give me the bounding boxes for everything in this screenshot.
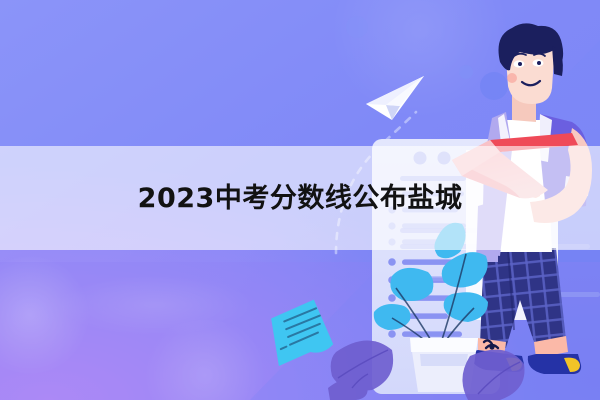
decorative-dot-tiny — [346, 16, 368, 38]
banner-canvas: 2023中考分数线公布盐城 — [0, 0, 600, 400]
decorative-dot-large — [480, 72, 508, 100]
decorative-dot-small — [459, 65, 473, 79]
shoe-right — [528, 354, 581, 374]
caption-band: 2023中考分数线公布盐城 — [0, 146, 600, 250]
cheek — [507, 73, 517, 83]
page-title: 2023中考分数线公布盐城 — [138, 185, 463, 212]
